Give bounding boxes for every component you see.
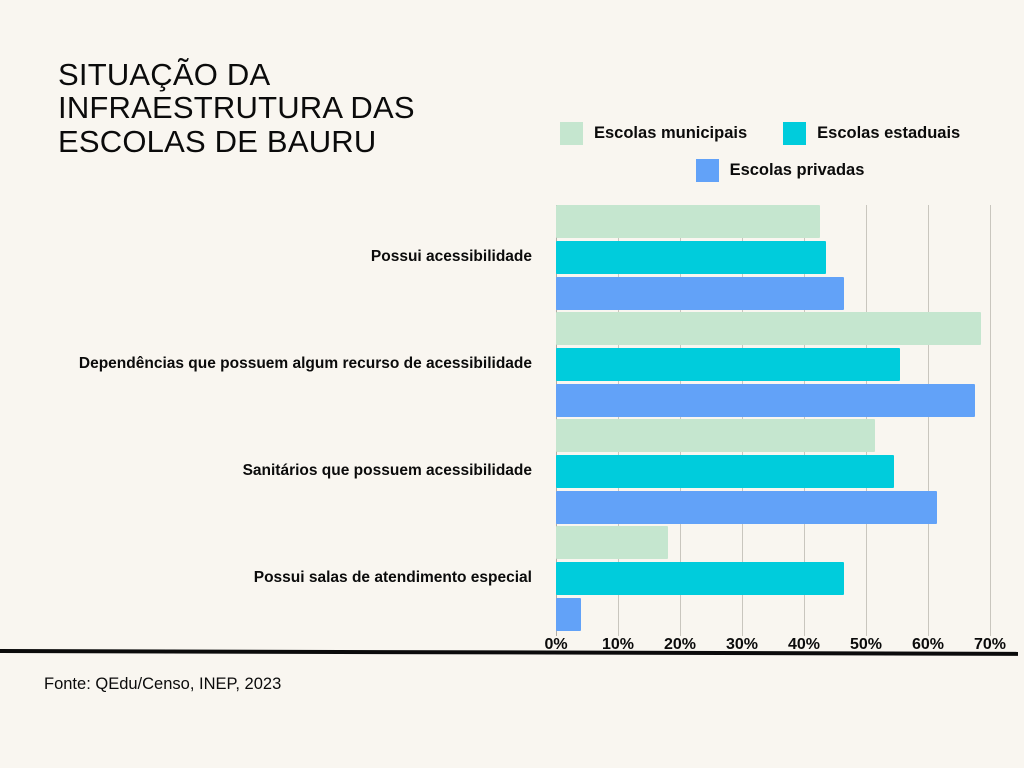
bar-group bbox=[556, 526, 990, 631]
legend-item-estaduais[interactable]: Escolas estaduais bbox=[783, 122, 960, 145]
page-title: SITUAÇÃO DA INFRAESTRUTURA DAS ESCOLAS D… bbox=[58, 58, 528, 158]
bar-group bbox=[556, 419, 990, 524]
bar-series-container bbox=[556, 205, 990, 633]
bar[interactable] bbox=[556, 348, 900, 381]
bar[interactable] bbox=[556, 526, 668, 559]
legend-row-secondary: Escolas privadas bbox=[560, 159, 990, 182]
bar-group bbox=[556, 312, 990, 417]
category-label: Possui acessibilidade bbox=[371, 248, 532, 267]
bar[interactable] bbox=[556, 241, 826, 274]
legend-label-privadas: Escolas privadas bbox=[730, 161, 865, 180]
category-label: Sanitários que possuem acessibilidade bbox=[243, 462, 532, 481]
plot-area bbox=[556, 205, 990, 633]
category-label: Possui salas de atendimento especial bbox=[254, 569, 532, 588]
bar[interactable] bbox=[556, 562, 844, 595]
bar[interactable] bbox=[556, 384, 975, 417]
legend-row-primary: Escolas municipais Escolas estaduais bbox=[560, 122, 990, 145]
bar[interactable] bbox=[556, 455, 894, 488]
legend-item-privadas[interactable]: Escolas privadas bbox=[696, 159, 865, 182]
legend-label-estaduais: Escolas estaduais bbox=[817, 124, 960, 143]
bar[interactable] bbox=[556, 598, 581, 631]
legend-swatch-privadas bbox=[696, 159, 719, 182]
bar[interactable] bbox=[556, 277, 844, 310]
legend-label-municipais: Escolas municipais bbox=[594, 124, 747, 143]
chart-legend: Escolas municipais Escolas estaduais Esc… bbox=[560, 122, 990, 182]
bar[interactable] bbox=[556, 491, 937, 524]
legend-swatch-municipais bbox=[560, 122, 583, 145]
category-label: Dependências que possuem algum recurso d… bbox=[79, 355, 532, 374]
legend-item-municipais[interactable]: Escolas municipais bbox=[560, 122, 747, 145]
bar[interactable] bbox=[556, 419, 875, 452]
bar[interactable] bbox=[556, 312, 981, 345]
bar[interactable] bbox=[556, 205, 820, 238]
bar-group bbox=[556, 205, 990, 310]
legend-swatch-estaduais bbox=[783, 122, 806, 145]
gridline-70pct bbox=[990, 205, 991, 636]
category-axis-labels: Possui acessibilidadeDependências que po… bbox=[0, 205, 544, 633]
source-note: Fonte: QEdu/Censo, INEP, 2023 bbox=[44, 675, 281, 694]
